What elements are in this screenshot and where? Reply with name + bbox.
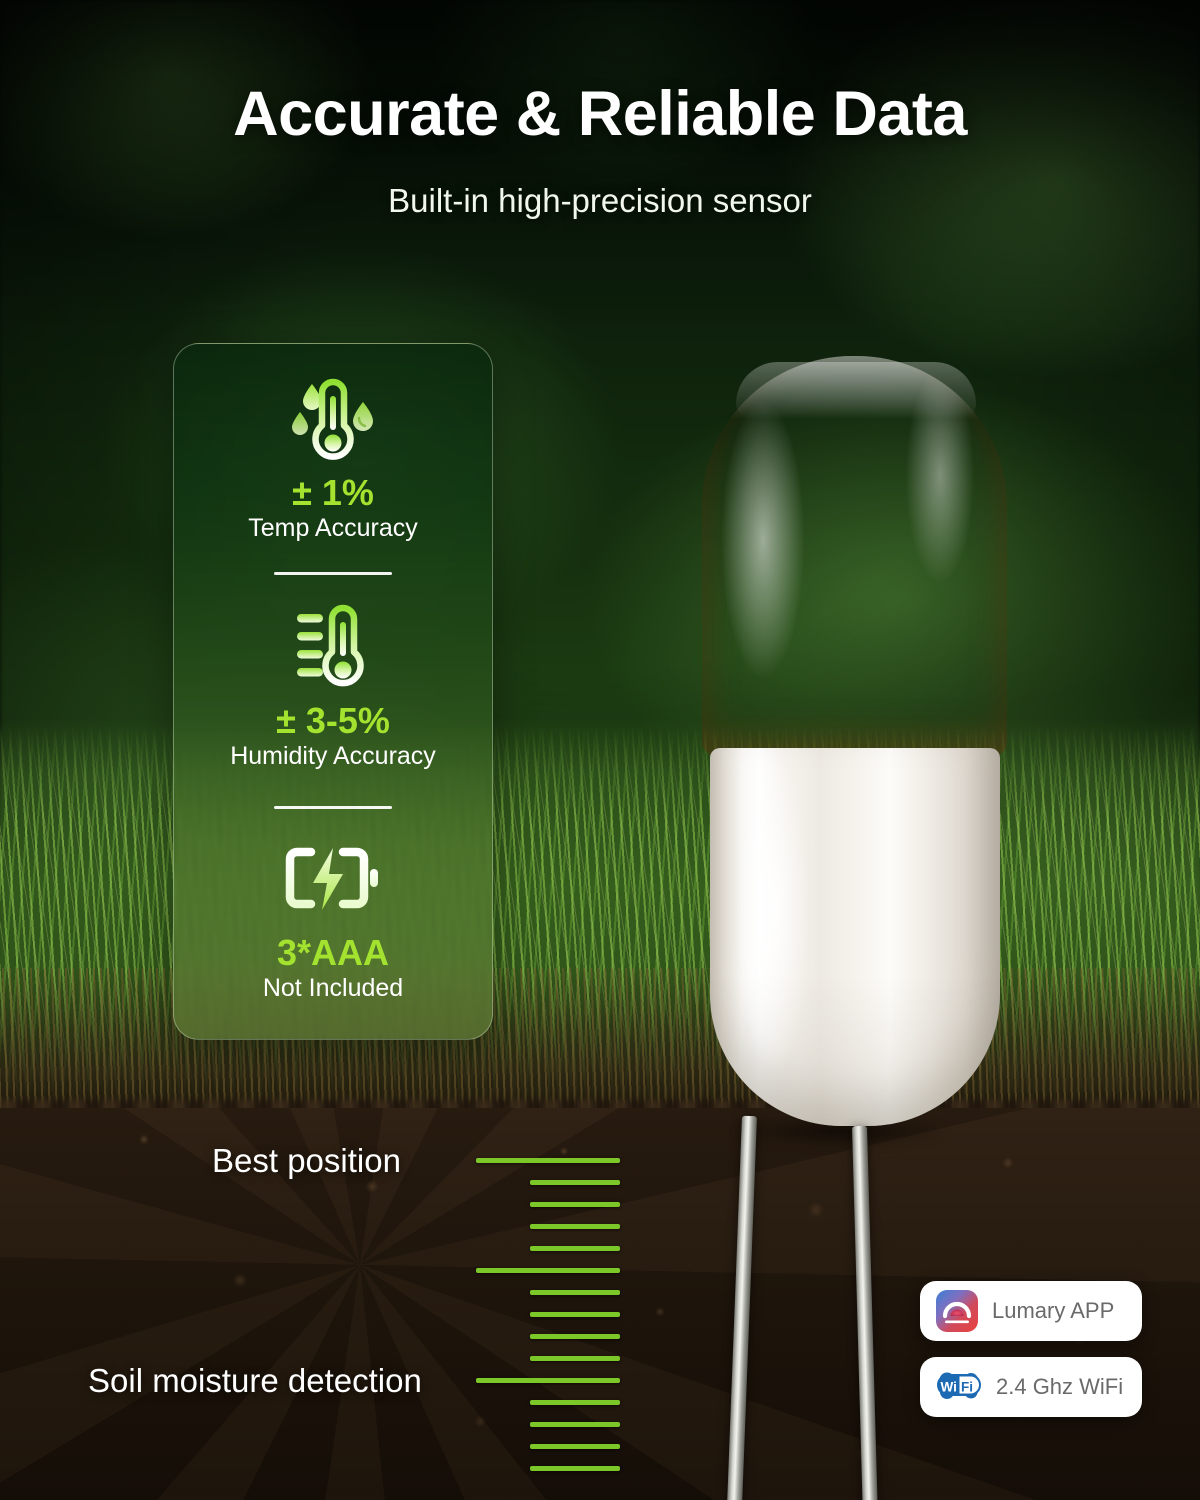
spec-label-battery: Not Included [174, 974, 492, 1003]
product-white-body [710, 748, 1000, 1126]
spec-value-battery: 3*AAA [174, 934, 492, 972]
wifi-logo-icon: Wi Fi [936, 1371, 982, 1403]
page-subtitle: Built-in high-precision sensor [0, 182, 1200, 220]
ruler-tick-minor [530, 1334, 620, 1339]
badge-label-lumary: Lumary APP [992, 1298, 1114, 1324]
spec-card: ± 1% Temp Accuracy [173, 343, 493, 1040]
ruler-tick-minor [530, 1356, 620, 1361]
ruler-tick-major [476, 1158, 620, 1163]
ruler-tick-minor [530, 1290, 620, 1295]
spec-item-temp-accuracy: ± 1% Temp Accuracy [174, 372, 492, 543]
spec-item-humidity-accuracy: ± 3-5% Humidity Accuracy [174, 600, 492, 771]
svg-text:Wi: Wi [941, 1380, 957, 1395]
ruler-tick-minor [530, 1202, 620, 1207]
spec-item-battery: 3*AAA Not Included [174, 832, 492, 1003]
spec-label-temp: Temp Accuracy [174, 514, 492, 543]
ruler-tick-minor [530, 1444, 620, 1449]
spec-value-temp: ± 1% [174, 474, 492, 512]
compatibility-badges: Lumary APP Wi Fi 2.4 Ghz WiFi [920, 1281, 1142, 1433]
callout-soil-moisture: Soil moisture detection [88, 1362, 422, 1400]
ruler-tick-minor [530, 1400, 620, 1405]
spec-label-humidity: Humidity Accuracy [174, 742, 492, 771]
ruler-tick-minor [530, 1246, 620, 1251]
body-gloss-highlight [710, 748, 1000, 1126]
badge-label-wifi: 2.4 Ghz WiFi [996, 1374, 1123, 1400]
ruler-tick-minor [530, 1466, 620, 1471]
badge-lumary-app[interactable]: Lumary APP [920, 1281, 1142, 1341]
ruler-tick-minor [530, 1180, 620, 1185]
cap-top-band [736, 362, 976, 418]
battery-bolt-icon [174, 832, 492, 928]
svg-text:Fi: Fi [961, 1380, 973, 1395]
ruler-tick-minor [530, 1224, 620, 1229]
ruler-tick-major [476, 1268, 620, 1273]
ruler-tick-minor [530, 1422, 620, 1427]
product-infographic: Accurate & Reliable Data Built-in high-p… [0, 0, 1200, 1500]
thermometer-scale-icon [174, 600, 492, 696]
soil-sensor-product [680, 356, 1010, 1146]
page-title: Accurate & Reliable Data [0, 78, 1200, 150]
thermometer-droplets-icon [174, 372, 492, 468]
lumary-app-icon [936, 1290, 978, 1332]
spec-value-humidity: ± 3-5% [174, 702, 492, 740]
product-orange-cap [702, 356, 1007, 756]
spec-divider-2 [274, 806, 392, 809]
badge-wifi[interactable]: Wi Fi 2.4 Ghz WiFi [920, 1357, 1142, 1417]
ruler-tick-minor [530, 1312, 620, 1317]
ruler-tick-major [476, 1378, 620, 1383]
depth-ruler [466, 1158, 620, 1488]
callout-best-position: Best position [212, 1142, 401, 1180]
spec-divider-1 [274, 572, 392, 575]
